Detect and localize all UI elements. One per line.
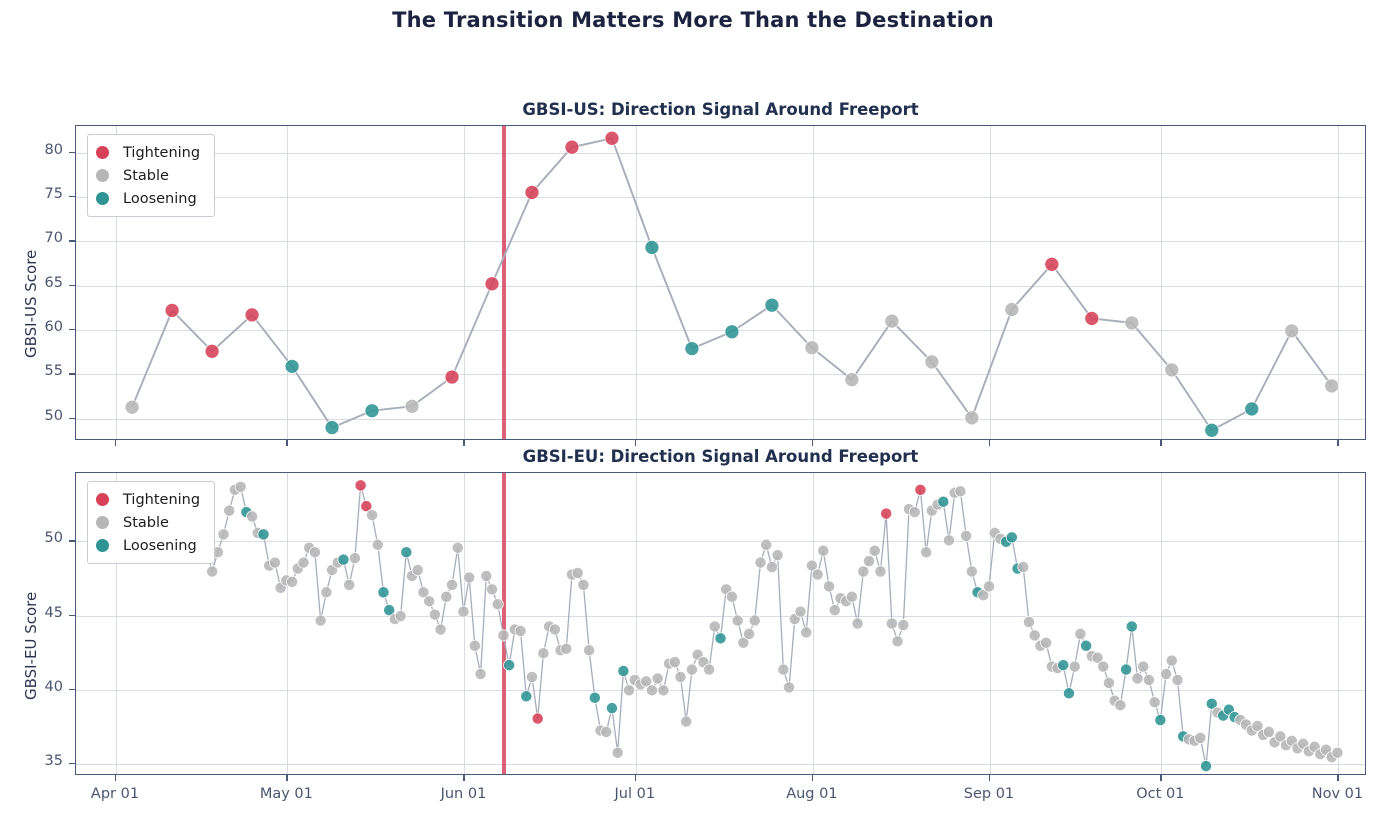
data-point[interactable] [372, 539, 383, 550]
data-point[interactable] [549, 624, 560, 635]
data-point[interactable] [469, 640, 480, 651]
data-point[interactable] [205, 344, 219, 358]
legend-item-loosening[interactable]: Loosening [96, 187, 200, 210]
legend-label-tightening: Tightening [123, 492, 200, 508]
data-point[interactable] [1195, 732, 1206, 743]
data-point[interactable] [492, 599, 503, 610]
data-point[interactable] [224, 505, 235, 516]
data-point[interactable] [572, 567, 583, 578]
data-point[interactable] [1085, 311, 1099, 325]
data-point[interactable] [846, 591, 857, 602]
figure-title: The Transition Matters More Than the Des… [0, 8, 1386, 32]
x-tick-mark [286, 440, 287, 446]
legend-item-tightening-eu[interactable]: Tightening [96, 488, 200, 511]
data-point[interactable] [395, 610, 406, 621]
y-tick-mark [69, 540, 75, 541]
data-point[interactable] [1285, 324, 1299, 338]
data-point[interactable] [464, 572, 475, 583]
data-point[interactable] [685, 342, 699, 356]
data-point[interactable] [235, 481, 246, 492]
y-tick-label: 70 [19, 230, 63, 246]
data-point[interactable] [1115, 700, 1126, 711]
legend-dot-stable [96, 516, 109, 529]
legend-label-loosening: Loosening [123, 191, 197, 207]
data-point[interactable] [1155, 714, 1166, 725]
legend-dot-tightening [96, 146, 109, 159]
data-point[interactable] [452, 542, 463, 553]
y-tick-label: 50 [19, 530, 63, 546]
data-point[interactable] [805, 341, 819, 355]
data-point[interactable] [125, 400, 139, 414]
data-point[interactable] [715, 633, 726, 644]
data-point[interactable] [726, 591, 737, 602]
data-point[interactable] [915, 484, 926, 495]
data-point[interactable] [532, 713, 543, 724]
data-point[interactable] [624, 685, 635, 696]
y-tick-label: 80 [19, 142, 63, 158]
x-tick-label: Sep 01 [934, 786, 1044, 802]
data-point[interactable] [612, 747, 623, 758]
legend-gbsi-us: Tightening Stable Loosening [87, 134, 215, 217]
data-point[interactable] [961, 530, 972, 541]
data-point[interactable] [445, 370, 459, 384]
x-tick-label: Aug 01 [757, 786, 867, 802]
data-point[interactable] [829, 605, 840, 616]
panel-gbsi-eu: GBSI-EU: Direction Signal Around Freepor… [75, 472, 1366, 775]
data-point[interactable] [1325, 379, 1339, 393]
y-tick-label: 40 [19, 679, 63, 695]
x-tick-mark [812, 440, 813, 446]
data-point[interactable] [943, 535, 954, 546]
data-point[interactable] [845, 373, 859, 387]
data-point[interactable] [355, 480, 366, 491]
data-point[interactable] [852, 618, 863, 629]
data-point[interactable] [652, 673, 663, 684]
data-point[interactable] [869, 545, 880, 556]
data-point[interactable] [1080, 640, 1091, 651]
x-tick-label: May 01 [231, 786, 341, 802]
data-point[interactable] [1132, 673, 1143, 684]
data-point[interactable] [1005, 303, 1019, 317]
ylabel-gbsi-us: GBSI-US Score [22, 250, 40, 358]
data-point[interactable] [605, 131, 619, 145]
data-point[interactable] [686, 664, 697, 675]
data-point[interactable] [246, 511, 257, 522]
data-point[interactable] [772, 550, 783, 561]
data-point[interactable] [561, 643, 572, 654]
data-point[interactable] [435, 624, 446, 635]
data-point[interactable] [658, 685, 669, 696]
y-tick-label: 50 [19, 408, 63, 424]
data-point[interactable] [1200, 760, 1211, 771]
y-tick-mark [69, 373, 75, 374]
x-tick-label: Jul 01 [580, 786, 690, 802]
data-point[interactable] [601, 726, 612, 737]
data-point[interactable] [725, 325, 739, 339]
data-point[interactable] [858, 566, 869, 577]
data-point[interactable] [709, 621, 720, 632]
data-point[interactable] [338, 554, 349, 565]
data-point[interactable] [315, 615, 326, 626]
data-point[interactable] [584, 645, 595, 656]
x-tick-mark [286, 775, 287, 781]
y-tick-label: 65 [19, 275, 63, 291]
data-point[interactable] [938, 496, 949, 507]
data-point[interactable] [818, 545, 829, 556]
data-point[interactable] [669, 657, 680, 668]
data-point[interactable] [486, 584, 497, 595]
legend-gbsi-eu: Tightening Stable Loosening [87, 481, 215, 564]
legend-dot-loosening [96, 539, 109, 552]
legend-dot-stable [96, 169, 109, 182]
data-point[interactable] [1069, 661, 1080, 672]
data-point[interactable] [886, 618, 897, 629]
x-tick-label: Apr 01 [60, 786, 170, 802]
data-point[interactable] [921, 547, 932, 558]
y-tick-mark [69, 196, 75, 197]
data-point[interactable] [1172, 674, 1183, 685]
data-point[interactable] [955, 486, 966, 497]
data-point[interactable] [269, 557, 280, 568]
data-point[interactable] [578, 579, 589, 590]
data-point[interactable] [1126, 621, 1137, 632]
data-point[interactable] [909, 507, 920, 518]
data-point[interactable] [645, 240, 659, 254]
series-gbsi-us [75, 125, 1366, 440]
y-tick-mark [69, 763, 75, 764]
data-point[interactable] [245, 308, 259, 322]
data-point[interactable] [1149, 697, 1160, 708]
data-point[interactable] [504, 659, 515, 670]
x-tick-label: Oct 01 [1105, 786, 1215, 802]
y-tick-label: 35 [19, 753, 63, 769]
data-point[interactable] [1045, 257, 1059, 271]
y-tick-mark [69, 418, 75, 419]
data-point[interactable] [606, 703, 617, 714]
data-point[interactable] [285, 359, 299, 373]
y-tick-mark [69, 689, 75, 690]
y-tick-label: 45 [19, 605, 63, 621]
data-point[interactable] [618, 665, 629, 676]
x-tick-mark [989, 440, 990, 446]
data-point[interactable] [1006, 532, 1017, 543]
data-point[interactable] [1023, 616, 1034, 627]
data-point[interactable] [1263, 726, 1274, 737]
data-point[interactable] [1018, 561, 1029, 572]
y-tick-label: 75 [19, 186, 63, 202]
series-gbsi-eu [75, 472, 1366, 775]
data-point[interactable] [863, 556, 874, 567]
data-point[interactable] [1138, 661, 1149, 672]
data-point[interactable] [218, 529, 229, 540]
legend-item-loosening-eu[interactable]: Loosening [96, 534, 200, 557]
x-tick-label: Nov 01 [1282, 786, 1386, 802]
data-point[interactable] [538, 648, 549, 659]
data-point[interactable] [378, 587, 389, 598]
data-point[interactable] [675, 671, 686, 682]
data-point[interactable] [761, 539, 772, 550]
data-point[interactable] [365, 404, 379, 418]
data-point[interactable] [812, 569, 823, 580]
data-point[interactable] [1098, 661, 1109, 672]
data-point[interactable] [646, 685, 657, 696]
data-point[interactable] [881, 508, 892, 519]
x-tick-mark [463, 775, 464, 781]
data-point[interactable] [165, 303, 179, 317]
data-point[interactable] [743, 628, 754, 639]
y-tick-mark [69, 240, 75, 241]
panel-title-gbsi-us: GBSI-US: Direction Signal Around Freepor… [75, 100, 1366, 119]
data-point[interactable] [344, 579, 355, 590]
data-point[interactable] [755, 557, 766, 568]
data-point[interactable] [983, 581, 994, 592]
y-tick-label: 60 [19, 319, 63, 335]
x-tick-mark [812, 775, 813, 781]
data-point[interactable] [783, 682, 794, 693]
data-point[interactable] [823, 581, 834, 592]
data-point[interactable] [258, 529, 269, 540]
x-tick-mark [115, 440, 116, 446]
data-point[interactable] [446, 579, 457, 590]
data-point[interactable] [875, 566, 886, 577]
x-tick-mark [1160, 440, 1161, 446]
data-point[interactable] [1165, 363, 1179, 377]
legend-dot-loosening [96, 192, 109, 205]
data-point[interactable] [1143, 674, 1154, 685]
legend-label-stable: Stable [123, 515, 169, 531]
data-point[interactable] [366, 509, 377, 520]
y-tick-mark [69, 152, 75, 153]
x-tick-mark [635, 440, 636, 446]
data-point[interactable] [207, 566, 218, 577]
x-tick-label: Jun 01 [408, 786, 518, 802]
data-point[interactable] [795, 606, 806, 617]
data-point[interactable] [475, 668, 486, 679]
data-point[interactable] [1041, 637, 1052, 648]
panel-title-gbsi-eu: GBSI-EU: Direction Signal Around Freepor… [75, 447, 1366, 466]
data-point[interactable] [1166, 655, 1177, 666]
data-point[interactable] [966, 566, 977, 577]
data-point[interactable] [498, 630, 509, 641]
data-point[interactable] [1075, 628, 1086, 639]
data-point[interactable] [525, 185, 539, 199]
data-point[interactable] [1058, 659, 1069, 670]
data-point[interactable] [766, 561, 777, 572]
data-point[interactable] [441, 591, 452, 602]
figure-root: The Transition Matters More Than the Des… [0, 0, 1386, 818]
y-tick-mark [69, 329, 75, 330]
x-tick-mark [1337, 440, 1338, 446]
y-tick-label: 55 [19, 363, 63, 379]
data-point[interactable] [481, 570, 492, 581]
data-point[interactable] [589, 692, 600, 703]
x-tick-mark [463, 440, 464, 446]
data-point[interactable] [325, 421, 339, 435]
legend-label-tightening: Tightening [123, 145, 200, 161]
data-point[interactable] [1125, 316, 1139, 330]
data-point[interactable] [1029, 630, 1040, 641]
legend-item-stable[interactable]: Stable [96, 164, 200, 187]
legend-label-loosening: Loosening [123, 538, 197, 554]
data-point[interactable] [892, 636, 903, 647]
legend-item-tightening[interactable]: Tightening [96, 141, 200, 164]
data-point[interactable] [401, 547, 412, 558]
legend-label-stable: Stable [123, 168, 169, 184]
data-point[interactable] [412, 564, 423, 575]
data-point[interactable] [703, 664, 714, 675]
data-point[interactable] [321, 587, 332, 598]
data-point[interactable] [485, 277, 499, 291]
data-point[interactable] [521, 691, 532, 702]
data-point[interactable] [405, 399, 419, 413]
data-point[interactable] [1160, 668, 1171, 679]
data-point[interactable] [458, 606, 469, 617]
y-tick-mark [69, 285, 75, 286]
data-point[interactable] [1205, 423, 1219, 437]
data-point[interactable] [1063, 688, 1074, 699]
x-tick-mark [635, 775, 636, 781]
data-point[interactable] [749, 615, 760, 626]
data-point[interactable] [1332, 747, 1343, 758]
data-point[interactable] [778, 664, 789, 675]
data-point[interactable] [424, 596, 435, 607]
data-point[interactable] [965, 411, 979, 425]
data-point[interactable] [681, 716, 692, 727]
x-tick-mark [1337, 775, 1338, 781]
legend-item-stable-eu[interactable]: Stable [96, 511, 200, 534]
series-line [132, 138, 1332, 430]
data-point[interactable] [1245, 402, 1259, 416]
data-point[interactable] [885, 314, 899, 328]
data-point[interactable] [1120, 664, 1131, 675]
data-point[interactable] [309, 547, 320, 558]
x-tick-mark [1160, 775, 1161, 781]
data-point[interactable] [349, 553, 360, 564]
data-point[interactable] [765, 298, 779, 312]
data-point[interactable] [925, 355, 939, 369]
data-point[interactable] [801, 627, 812, 638]
legend-dot-tightening [96, 493, 109, 506]
data-point[interactable] [515, 625, 526, 636]
data-point[interactable] [1103, 677, 1114, 688]
y-tick-mark [69, 615, 75, 616]
data-point[interactable] [298, 557, 309, 568]
data-point[interactable] [429, 609, 440, 620]
x-tick-mark [115, 775, 116, 781]
data-point[interactable] [898, 619, 909, 630]
panel-gbsi-us: GBSI-US: Direction Signal Around Freepor… [75, 125, 1366, 440]
data-point[interactable] [565, 140, 579, 154]
data-point[interactable] [526, 671, 537, 682]
data-point[interactable] [286, 576, 297, 587]
data-point[interactable] [732, 615, 743, 626]
x-tick-mark [989, 775, 990, 781]
